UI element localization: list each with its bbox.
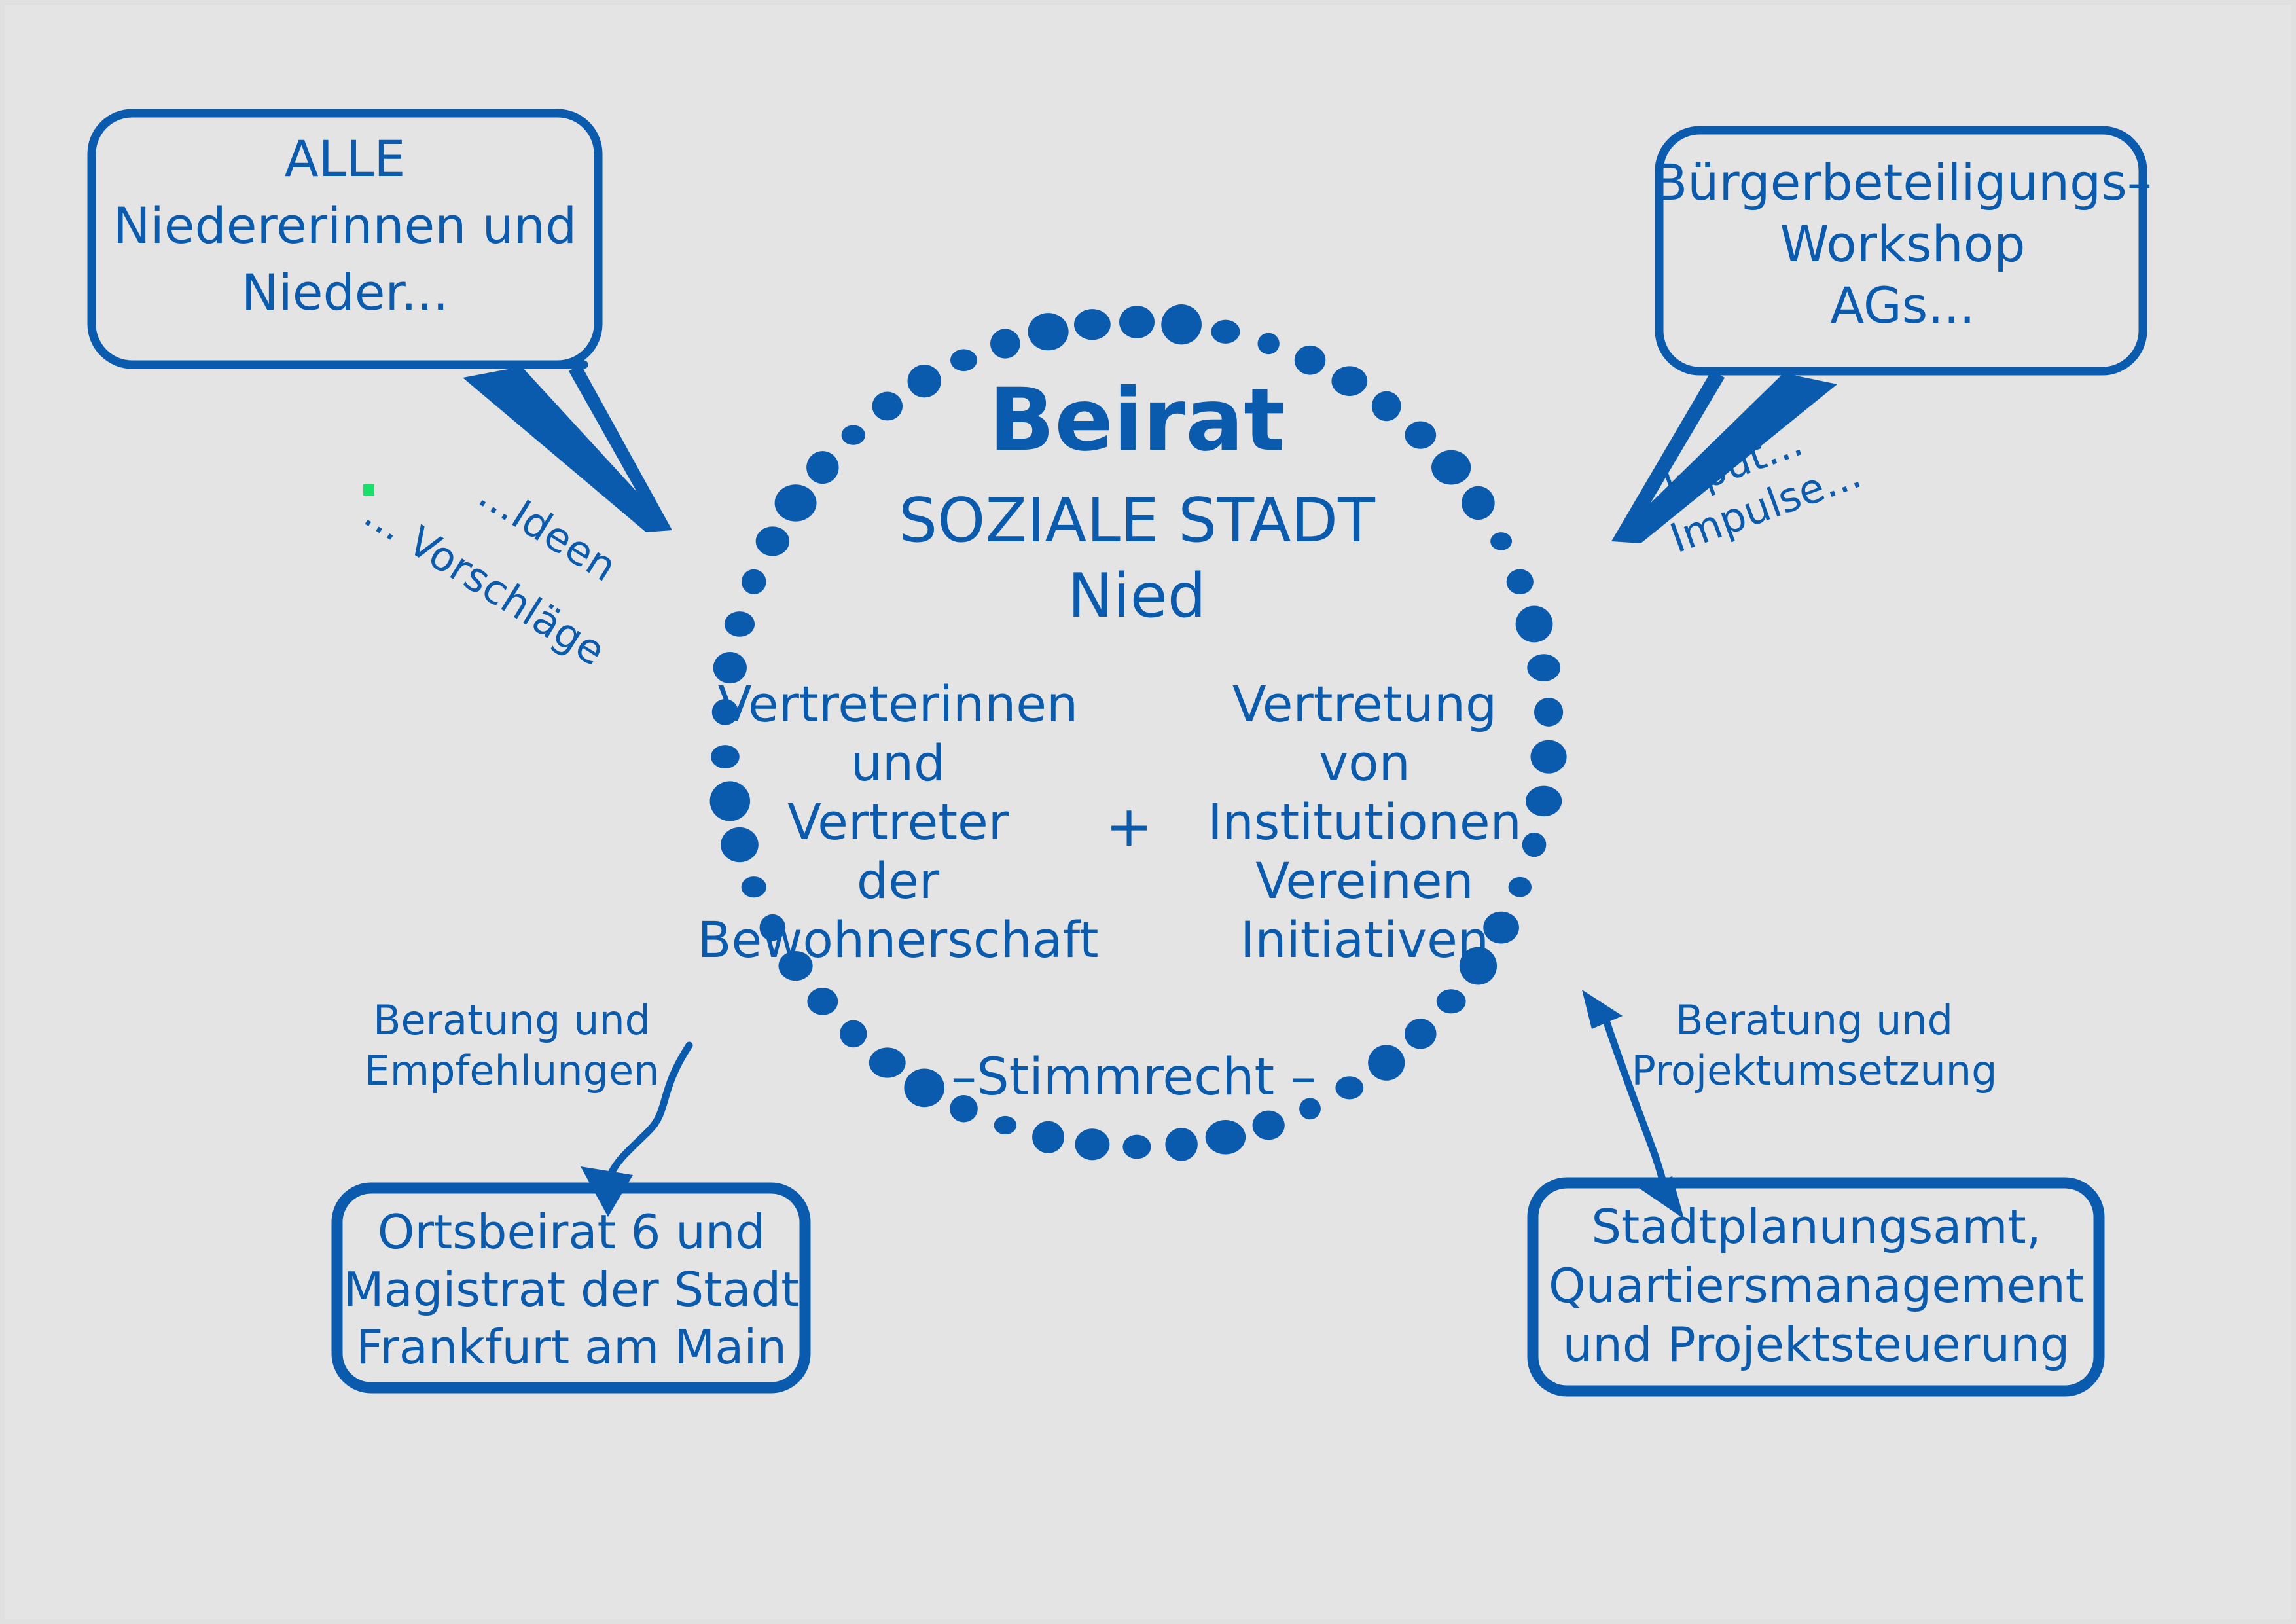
circle-dot — [721, 827, 759, 862]
circle-dot — [1335, 1076, 1363, 1099]
bubble-top-left-line-3: Nieder... — [242, 263, 448, 321]
box-bottom-right-line-1: Stadtplanungsamt, — [1591, 1199, 2041, 1254]
circle-dot — [1522, 833, 1547, 857]
box-bottom-left-line-2: Magistrat der Stadt — [343, 1262, 799, 1317]
circle-dot — [1075, 1128, 1109, 1160]
box-bottom-left-line-1: Ortsbeirat 6 und — [378, 1204, 766, 1259]
annotation-right-lower-line-1: Beratung und — [1676, 996, 1953, 1044]
circle-dot — [1211, 320, 1240, 344]
circle-dot — [1028, 313, 1069, 350]
annotation-left-lower-line-2: Empfehlungen — [365, 1047, 660, 1094]
circle-dot — [1206, 1120, 1246, 1154]
center-right-col-line-1: Vertretung — [1232, 675, 1498, 733]
bubble-top-right-line-2: Workshop — [1780, 215, 2026, 273]
circle-dot — [1074, 309, 1111, 340]
diagram-canvas: Beirat SOZIALE STADT Nied Vertreterinnen… — [0, 0, 2296, 1624]
center-left-col-line-1: Vertreterinnen — [718, 675, 1078, 733]
circle-dot — [1032, 1121, 1064, 1153]
annotation-left-lower-line-1: Beratung und — [373, 996, 651, 1044]
plus-sign: + — [1105, 794, 1153, 859]
stimmrecht-label: –Stimmrecht – — [951, 1048, 1316, 1107]
center-left-col-line-3: Vertreter — [787, 793, 1009, 851]
box-bottom-right-line-2: Quartiersmanagement — [1549, 1258, 2084, 1313]
circle-dot — [1331, 366, 1367, 396]
circle-dot — [904, 1068, 944, 1107]
box-bottom-left-line-3: Frankfurt am Main — [356, 1320, 787, 1375]
circle-dot — [1507, 569, 1534, 595]
circle-dot — [1490, 532, 1512, 550]
circle-dot — [1431, 450, 1471, 485]
bubble-top-right-line-3: AGs... — [1830, 276, 1975, 334]
box-bottom-right-line-3: und Projektsteuerung — [1563, 1317, 2070, 1372]
center-right-col-line-3: Institutionen — [1208, 793, 1522, 851]
circle-dot — [1531, 740, 1567, 774]
center-subtitle-line1: SOZIALE STADT — [899, 485, 1376, 556]
circle-dot — [869, 1047, 906, 1077]
circle-dot — [842, 425, 865, 444]
center-left-col-line-5: Bewohnerschaft — [697, 911, 1098, 969]
annotation-right-lower-line-2: Projektumsetzung — [1632, 1047, 1998, 1094]
circle-dot — [742, 569, 766, 594]
circle-dot — [756, 526, 789, 556]
circle-dot — [1462, 486, 1495, 520]
circle-dot — [990, 329, 1020, 358]
circle-dot — [872, 392, 903, 421]
circle-dot — [1516, 606, 1553, 643]
circle-dot — [1437, 989, 1466, 1013]
center-subtitle-line2: Nied — [1067, 560, 1206, 631]
circle-dot — [1368, 1045, 1405, 1080]
circle-dot — [775, 484, 817, 521]
arrow-right-up-head — [1582, 990, 1623, 1029]
circle-dot — [710, 781, 751, 821]
arrow-right-double-path — [1607, 1022, 1662, 1180]
circle-dot — [725, 611, 755, 637]
center-title: Beirat — [989, 370, 1285, 471]
circle-dot — [1119, 306, 1155, 338]
bubble-top-left-line-2: Niedererinnen und — [113, 196, 577, 255]
circle-dot — [1258, 333, 1280, 355]
center-right-col-line-4: Vereinen — [1255, 852, 1473, 910]
circle-dot — [1161, 304, 1202, 344]
circle-dot — [711, 745, 740, 768]
center-right-col-line-2: von — [1319, 734, 1410, 792]
circle-dot — [807, 988, 838, 1015]
circle-dot — [1405, 422, 1436, 449]
circle-dot — [1122, 1135, 1151, 1159]
center-right-col-line-5: Initiativen — [1240, 911, 1489, 969]
center-left-col-line-2: und — [851, 734, 946, 792]
circle-dot — [1527, 654, 1560, 681]
bubble-top-right-line-1: Bürgerbeteiligungs– — [1653, 153, 2152, 211]
circle-dot — [742, 876, 766, 897]
circle-dot — [840, 1020, 867, 1048]
bubble-top-left-line-1: ALLE — [285, 130, 406, 188]
circle-dot — [1534, 698, 1563, 727]
center-left-col-line-4: der — [857, 852, 940, 910]
circle-dot — [806, 451, 838, 484]
circle-dot — [1526, 786, 1562, 817]
green-marker-dot — [363, 484, 374, 496]
circle-dot — [907, 365, 941, 397]
circle-dot — [994, 1116, 1016, 1134]
circle-dot — [1372, 391, 1401, 421]
circle-dot — [1295, 346, 1326, 375]
circle-dot — [1509, 877, 1532, 897]
circle-dot — [1405, 1019, 1437, 1049]
circle-dot — [1165, 1128, 1197, 1161]
circle-dot — [950, 349, 977, 371]
circle-dot — [1253, 1111, 1285, 1140]
beirat-soziale-stadt-diagram: Beirat SOZIALE STADT Nied Vertreterinnen… — [5, 5, 2296, 1624]
